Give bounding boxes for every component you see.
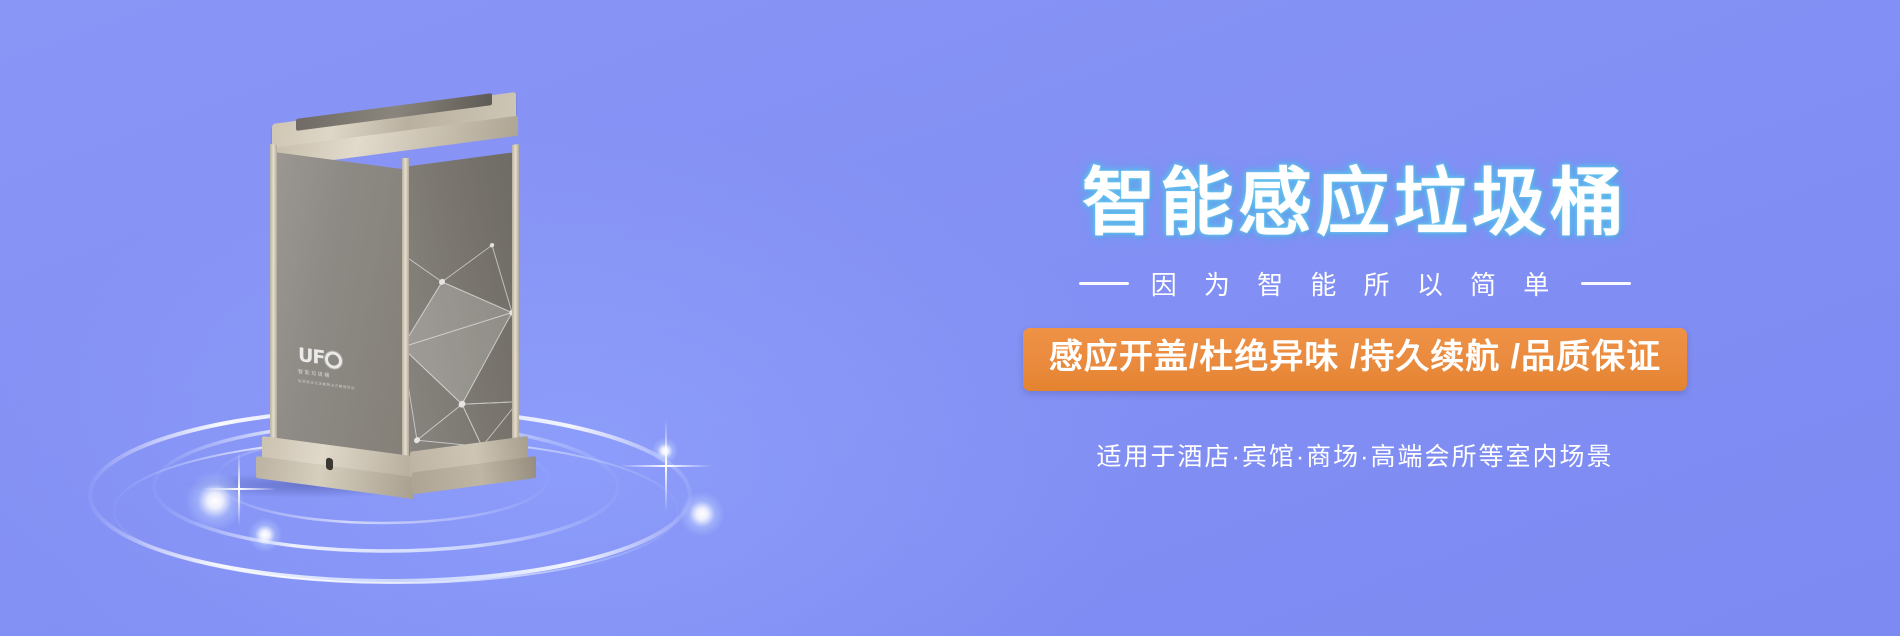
sparkle-icon bbox=[620, 420, 712, 512]
product-illustration: UF 智能垃圾桶 智能感应垃圾桶解决方案提供商 bbox=[60, 20, 760, 616]
subtitle-dash-right bbox=[1581, 282, 1631, 285]
banner-tagline: 适用于酒店·宾馆·商场·高端会所等室内场景 bbox=[1097, 437, 1614, 473]
promo-banner: UF 智能垃圾桶 智能感应垃圾桶解决方案提供商 智能感应垃圾桶 因 为 智 能 … bbox=[0, 0, 1900, 636]
subtitle-text: 因 为 智 能 所 以 简 单 bbox=[1151, 265, 1560, 302]
trash-bin-render: UF 智能垃圾桶 智能感应垃圾桶解决方案提供商 bbox=[210, 60, 550, 480]
bin-face-left bbox=[274, 152, 406, 470]
bin-lock-keyhole bbox=[326, 458, 333, 471]
bin-edge-trim bbox=[270, 144, 277, 453]
light-spark bbox=[680, 492, 724, 536]
bin-edge-trim bbox=[512, 144, 519, 445]
bin-face-right bbox=[406, 152, 516, 467]
features-highlight-bar: 感应开盖/杜绝异味 /持久续航 /品质保证 bbox=[1023, 328, 1687, 390]
banner-copy-block: 智能感应垃圾桶 因 为 智 能 所 以 简 单 感应开盖/杜绝异味 /持久续航 … bbox=[880, 0, 1830, 636]
features-highlight-text: 感应开盖/杜绝异味 /持久续航 /品质保证 bbox=[1049, 339, 1661, 376]
banner-title: 智能感应垃圾桶 bbox=[1082, 163, 1628, 243]
light-spark bbox=[248, 518, 282, 552]
banner-subtitle: 因 为 智 能 所 以 简 单 bbox=[1079, 265, 1632, 302]
polygon-network-graphic bbox=[406, 211, 516, 466]
brand-logo-circle-icon bbox=[325, 351, 342, 370]
subtitle-dash-left bbox=[1079, 282, 1129, 285]
light-spark bbox=[652, 438, 678, 464]
brand-logo-text: UF bbox=[298, 346, 324, 369]
bin-edge-trim bbox=[402, 158, 409, 460]
